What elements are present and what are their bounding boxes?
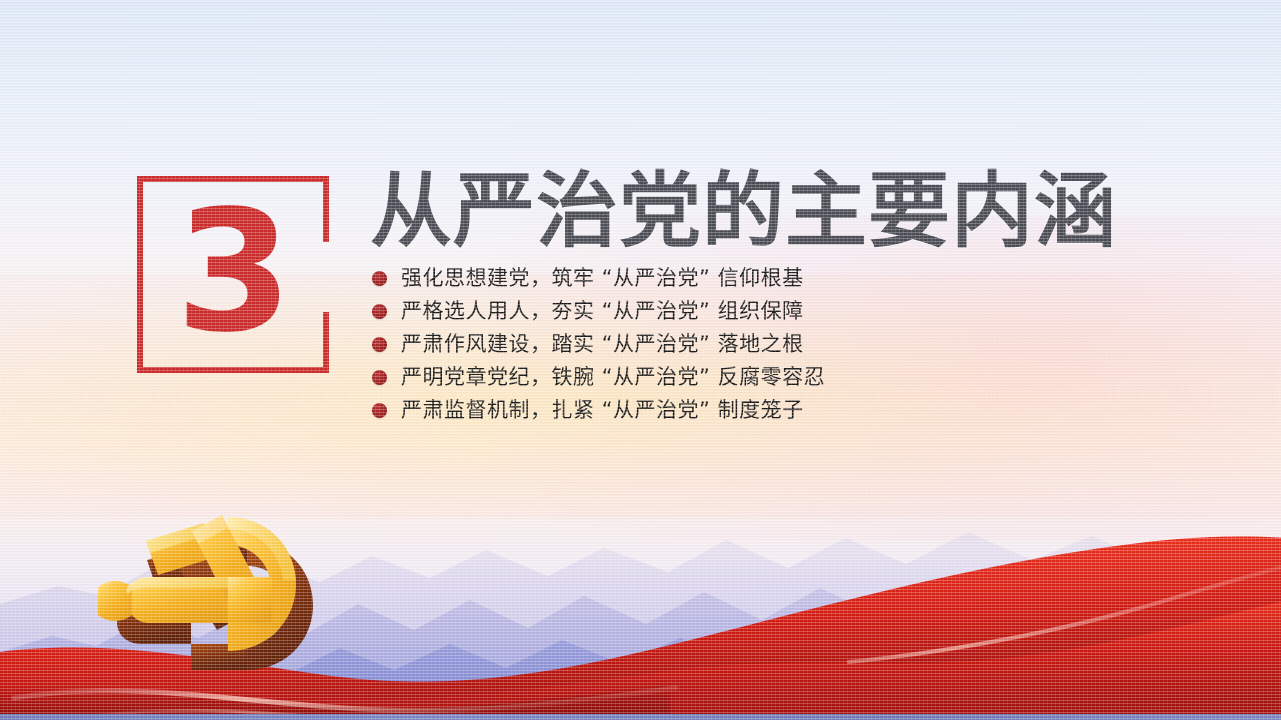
list-item: 严格选人用人，夯实 “从严治党” 组织保障 [372, 295, 1132, 328]
bullet-dot-icon [372, 370, 387, 385]
bullet-dot-icon [372, 337, 387, 352]
page-title: 从严治党的主要内涵 [370, 168, 1117, 257]
list-item: 严肃作风建设，踏实 “从严治党” 落地之根 [372, 328, 1132, 361]
bullet-dot-icon [372, 403, 387, 418]
slide-canvas: 3 从严治党的主要内涵 强化思想建党，筑牢 “从严治党” 信仰根基 严格选人用人… [0, 0, 1281, 720]
list-item-label: 严肃作风建设，踏实 “从严治党” 落地之根 [401, 334, 804, 355]
list-item-label: 严明党章党纪，铁腕 “从严治党” 反腐零容忍 [401, 367, 825, 388]
list-item-label: 严格选人用人，夯实 “从严治党” 组织保障 [401, 301, 804, 322]
list-item: 严明党章党纪，铁腕 “从严治党” 反腐零容忍 [372, 361, 1132, 394]
section-number-badge: 3 [137, 176, 329, 373]
list-item: 严肃监督机制，扎紧 “从严治党” 制度笼子 [372, 394, 1132, 427]
bullet-dot-icon [372, 271, 387, 286]
bullet-dot-icon [372, 304, 387, 319]
list-item-label: 强化思想建党，筑牢 “从严治党” 信仰根基 [401, 268, 804, 289]
badge-number: 3 [137, 187, 329, 355]
cpc-party-emblem-icon [42, 491, 352, 706]
bullet-list: 强化思想建党，筑牢 “从严治党” 信仰根基 严格选人用人，夯实 “从严治党” 组… [372, 262, 1132, 427]
bottom-accent-strip [0, 714, 1281, 720]
list-item-label: 严肃监督机制，扎紧 “从严治党” 制度笼子 [401, 400, 804, 421]
list-item: 强化思想建党，筑牢 “从严治党” 信仰根基 [372, 262, 1132, 295]
